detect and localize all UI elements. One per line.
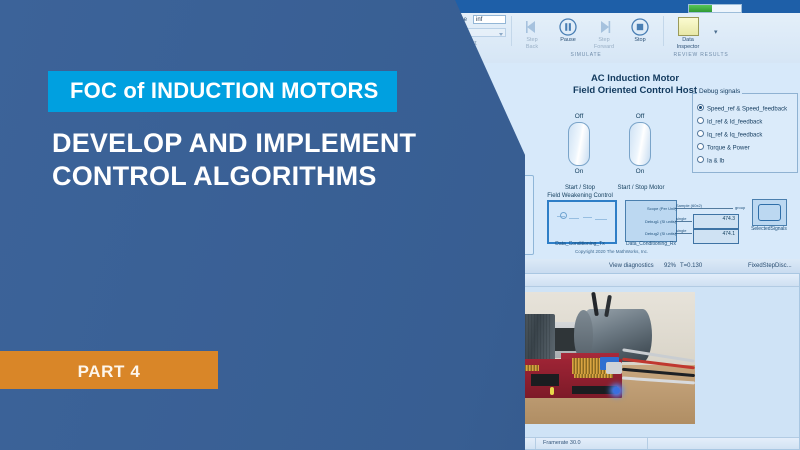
toolstrip-overflow-icon[interactable]: ▾ bbox=[714, 28, 718, 36]
eyebrow-banner: FOC of INDUCTION MOTORS bbox=[48, 71, 397, 112]
pause-icon bbox=[559, 18, 577, 36]
block-label-rx: Data_Conditioning_Rx bbox=[618, 241, 684, 247]
view-diagnostics-link[interactable]: View diagnostics bbox=[609, 259, 654, 273]
port-label-scope: Scope (Per Unit) bbox=[647, 206, 677, 211]
status-sim-time: T=0.130 bbox=[680, 259, 702, 273]
model-title-line2: Field Oriented Control Host bbox=[573, 85, 697, 96]
video-thumbnail: APPS IDNOS Stop Time inf Normal Fast Res… bbox=[0, 0, 800, 450]
step-back-icon bbox=[523, 18, 541, 36]
data-inspector-label-2: Inspector bbox=[677, 44, 700, 50]
switch-caption-1-line2: Field Weakening Control bbox=[547, 193, 613, 199]
step-back-button[interactable]: Step Back bbox=[514, 18, 550, 50]
signal-wire-1 bbox=[675, 208, 733, 209]
radio-label-4: Ia & Ib bbox=[707, 159, 724, 165]
photo-white-connector bbox=[606, 362, 621, 374]
scope-icon bbox=[758, 204, 781, 221]
radio-dot-icon-3 bbox=[697, 143, 704, 150]
radio-dot-icon-1 bbox=[697, 117, 704, 124]
radio-iq-ref[interactable]: Iq_ref & Iq_feedback bbox=[697, 130, 762, 140]
data-inspector-button[interactable]: Data Inspector bbox=[668, 17, 708, 50]
switch-field-weakening[interactable]: Off On bbox=[556, 112, 602, 176]
switch-caption-2: Start / Stop Motor bbox=[600, 184, 682, 192]
radio-ia-ib[interactable]: Ia & Ib bbox=[697, 156, 724, 166]
toolstrip-divider bbox=[511, 16, 512, 46]
block-label-scope: SelectedSignals bbox=[745, 226, 793, 232]
step-forward-icon bbox=[595, 18, 613, 36]
switch-caption-2-line1: Start / Stop Motor bbox=[617, 185, 664, 191]
switch-on-label-2: On bbox=[617, 167, 663, 176]
status-percent: 92% bbox=[664, 259, 676, 273]
radio-label-0: Speed_ref & Speed_feedback bbox=[707, 107, 787, 113]
port-label-debug2: Debug2 (SI units) bbox=[645, 231, 676, 236]
review-results-group-label: REVIEW RESULTS bbox=[666, 52, 736, 58]
model-title-line1: AC Induction Motor bbox=[591, 73, 679, 84]
block-thumbnail bbox=[555, 208, 609, 236]
debug-signals-title: Debug signals bbox=[697, 88, 742, 95]
data-inspector-label-1: Data bbox=[682, 37, 694, 43]
solver-label: FixedStepDisc... bbox=[748, 259, 792, 273]
photo-header-pins-3 bbox=[574, 374, 613, 378]
radio-torque-power[interactable]: Torque & Power bbox=[697, 143, 750, 153]
toolstrip-tab-bar: APPS IDNOS bbox=[430, 0, 800, 13]
photo-led-blue bbox=[613, 387, 620, 394]
switch-start-stop-motor[interactable]: Off On bbox=[617, 112, 663, 176]
display-block-1[interactable]: 474.3 bbox=[693, 214, 739, 229]
signal-wire-2 bbox=[675, 221, 692, 222]
step-forward-button[interactable]: Step Forward bbox=[586, 18, 622, 50]
scope-port-label: group bbox=[735, 205, 745, 210]
switch-off-label-2: Off bbox=[617, 112, 663, 121]
radio-label-3: Torque & Power bbox=[707, 146, 750, 152]
display-value-2: 474.1 bbox=[722, 231, 735, 237]
page-title: DEVELOP AND IMPLEMENT CONTROL ALGORITHMS bbox=[52, 127, 522, 193]
block-label-tx: Data_Conditioning_Tx bbox=[542, 241, 618, 247]
display-block-2[interactable]: 474.1 bbox=[693, 229, 739, 244]
radio-dot-icon-2 bbox=[697, 130, 704, 137]
simulation-progress-bar bbox=[688, 4, 742, 13]
photo-led-yellow bbox=[550, 387, 554, 395]
headline-line-1: DEVELOP AND IMPLEMENT bbox=[52, 127, 522, 160]
step-forward-label-1: Step bbox=[598, 37, 609, 43]
block-scope[interactable] bbox=[752, 199, 787, 226]
stop-label: Stop bbox=[634, 37, 645, 43]
radio-dot-selected-icon bbox=[697, 104, 704, 111]
part-badge-text: PART 4 bbox=[0, 362, 218, 382]
part-badge: PART 4 bbox=[0, 351, 218, 389]
step-back-label-1: Step bbox=[526, 37, 537, 43]
photo-chip-1 bbox=[531, 374, 559, 386]
pause-button[interactable]: Pause bbox=[550, 18, 586, 44]
stop-icon bbox=[631, 18, 649, 36]
radio-speed-ref[interactable]: Speed_ref & Speed_feedback bbox=[697, 104, 787, 114]
toggle-switch-handle-1[interactable] bbox=[568, 122, 590, 166]
data-inspector-icon bbox=[678, 17, 699, 36]
block-data-conditioning-tx[interactable] bbox=[547, 200, 617, 244]
headline-line-2: CONTROL ALGORITHMS bbox=[52, 160, 522, 193]
step-forward-label-2: Forward bbox=[594, 44, 614, 50]
progress-fill bbox=[689, 5, 712, 12]
webcam-framerate: Framerate 30.0 bbox=[543, 440, 581, 446]
radio-label-1: Id_ref & Id_feedback bbox=[707, 120, 762, 126]
port-label-debug1: Debug1 (SI units) bbox=[645, 219, 676, 224]
toggle-switch-handle-2[interactable] bbox=[629, 122, 651, 166]
pause-label: Pause bbox=[560, 37, 576, 43]
simulate-group-label: SIMULATE bbox=[514, 52, 658, 58]
signal-wire-3 bbox=[675, 233, 692, 234]
radio-id-ref[interactable]: Id_ref & Id_feedback bbox=[697, 117, 762, 127]
switch-on-label-1: On bbox=[556, 167, 602, 176]
stop-button[interactable]: Stop bbox=[622, 18, 658, 44]
copyright-text: Copyright 2020 The MathWorks, Inc. bbox=[575, 249, 648, 254]
radio-dot-icon-4 bbox=[697, 156, 704, 163]
stop-time-input[interactable]: inf bbox=[473, 15, 506, 24]
toolstrip-divider-2 bbox=[663, 16, 664, 46]
radio-label-2: Iq_ref & Iq_feedback bbox=[707, 133, 762, 139]
eyebrow-text: FOC of INDUCTION MOTORS bbox=[70, 78, 379, 103]
display-value-1: 474.3 bbox=[722, 216, 735, 222]
step-back-label-2: Back bbox=[526, 44, 538, 50]
photo-chip-2 bbox=[572, 386, 617, 394]
switch-caption-1-line1: Start / Stop bbox=[565, 185, 595, 191]
switch-off-label-1: Off bbox=[556, 112, 602, 121]
